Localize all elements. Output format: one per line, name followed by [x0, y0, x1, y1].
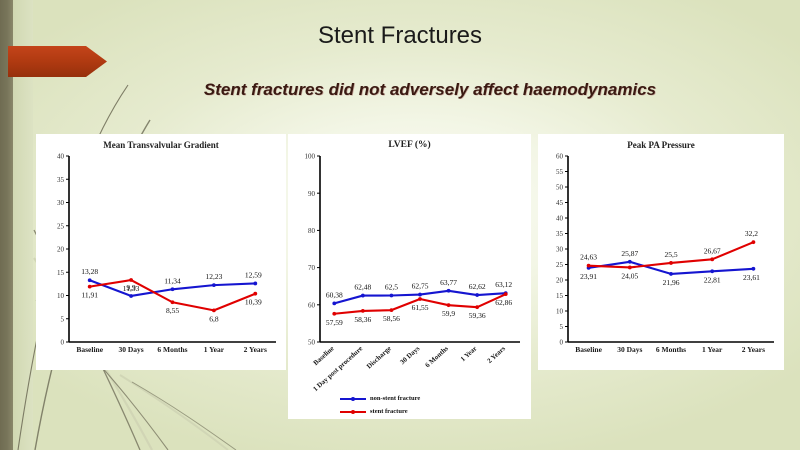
y-tick-label: 60	[308, 301, 316, 309]
y-tick-label: 25	[57, 222, 65, 230]
y-tick-label: 15	[57, 269, 65, 277]
y-tick-label: 35	[556, 230, 564, 238]
x-axis-label: Baseline	[312, 345, 336, 368]
y-tick-label: 25	[556, 261, 564, 269]
data-point-label: 24,63	[580, 253, 597, 262]
data-point-label: 25,5	[664, 250, 677, 259]
y-tick-label: 55	[556, 168, 564, 176]
x-axis-label: 6 Months	[656, 345, 686, 354]
x-axis-label: 1 Year	[459, 345, 478, 364]
y-tick-label: 5	[560, 323, 564, 331]
data-point-label: 21,96	[663, 278, 680, 287]
page-subtitle: Stent fractures did not adversely affect…	[120, 80, 740, 100]
chart-legend: non-stent fracture stent fracture	[288, 392, 531, 419]
y-tick-label: 10	[556, 308, 564, 316]
legend-marker-non-stent-fracture	[351, 397, 355, 401]
y-tick-label: 40	[556, 215, 564, 223]
data-point-label: 60,38	[326, 290, 343, 299]
data-point-label: 24,05	[621, 271, 638, 280]
legend-marker-stent-fracture	[351, 410, 355, 414]
x-axis-label: 6 Months	[157, 345, 187, 354]
y-tick-label: 90	[308, 190, 316, 198]
chart-panel-peak-pa-pressure: Peak PA Pressure 05101520253035404550556…	[538, 134, 784, 370]
data-point-label: 58,56	[383, 314, 400, 323]
chart-canvas-3: 051015202530354045505560Baseline30 Days6…	[538, 134, 784, 370]
legend-label-stent-fracture: stent fracture	[370, 408, 408, 415]
x-axis-label: 30 Days	[617, 345, 642, 354]
data-point-label: 57,59	[326, 318, 343, 327]
x-axis-label: 2 Years	[742, 345, 765, 354]
data-point-label: 62,62	[469, 282, 486, 291]
x-axis-label: Discharge	[365, 345, 393, 371]
data-point-label: 23,91	[580, 272, 597, 281]
y-tick-label: 80	[308, 227, 316, 235]
y-tick-label: 50	[556, 184, 564, 192]
x-axis-label: 6 Months	[424, 344, 451, 369]
data-point-label: 6,8	[209, 314, 219, 323]
data-point-label: 62,86	[495, 298, 512, 307]
y-tick-label: 60	[556, 153, 564, 161]
y-tick-label: 70	[308, 264, 316, 272]
data-point-label: 61,55	[412, 303, 429, 312]
y-tick-label: 45	[556, 199, 564, 207]
data-point-label: 58,36	[354, 315, 371, 324]
x-axis-label: 1 Year	[702, 345, 723, 354]
y-tick-label: 5	[61, 315, 65, 323]
chart-canvas-1: 0510152025303540Baseline30 Days6 Months1…	[36, 134, 286, 370]
y-tick-label: 20	[57, 246, 65, 254]
data-point-label: 26,67	[704, 246, 721, 255]
chart-canvas-2: 5060708090100Baseline1 Day post procedur…	[288, 134, 531, 419]
y-tick-label: 0	[61, 339, 65, 347]
y-tick-label: 10	[57, 292, 65, 300]
data-point-label: 62,48	[354, 283, 371, 292]
x-axis-label: 1 Day post procedure	[311, 345, 364, 394]
x-axis-label: 30 Days	[118, 345, 143, 354]
data-point-label: 32,2	[745, 229, 758, 238]
data-point-label: 63,77	[440, 278, 457, 287]
chart-title-1: Mean Transvalvular Gradient	[36, 140, 286, 150]
data-point-label: 23,61	[743, 273, 760, 282]
x-axis-label: Baseline	[575, 345, 602, 354]
y-tick-label: 15	[556, 292, 564, 300]
data-point-label: 11,34	[164, 276, 181, 285]
data-point-label: 8,55	[166, 306, 179, 315]
data-point-label: 13,28	[81, 267, 98, 276]
data-point-label: 62,5	[385, 283, 398, 292]
y-tick-label: 30	[57, 199, 65, 207]
y-tick-label: 30	[556, 246, 564, 254]
data-point-label: 12,59	[245, 270, 262, 279]
data-point-label: 59,9	[442, 309, 455, 318]
y-tick-label: 0	[560, 339, 564, 347]
chart-panel-lvef: LVEF (%) 5060708090100Baseline1 Day post…	[288, 134, 531, 419]
chart-title-3: Peak PA Pressure	[538, 140, 784, 150]
y-tick-label: 20	[556, 277, 564, 285]
x-axis-label: 2 Years	[486, 344, 508, 365]
y-tick-label: 50	[308, 339, 316, 347]
slide-canvas: Stent Fractures Stent fractures did not …	[0, 0, 800, 450]
y-tick-label: 35	[57, 176, 65, 184]
x-axis-label: 30 Days	[398, 344, 421, 366]
data-point-label: 10,39	[245, 298, 262, 307]
page-title: Stent Fractures	[0, 22, 800, 50]
data-point-label: 25,87	[621, 249, 638, 258]
x-axis-label: 1 Year	[204, 345, 225, 354]
legend-label-non-stent-fracture: non-stent fracture	[370, 395, 420, 402]
data-point-label: 12,23	[205, 272, 222, 281]
chart-panel-mean-transvalvular-gradient: Mean Transvalvular Gradient 051015202530…	[36, 134, 286, 370]
chart-title-2: LVEF (%)	[288, 140, 531, 150]
data-point-label: 59,36	[469, 311, 486, 320]
data-point-label: 63,12	[495, 280, 512, 289]
data-point-label: 62,75	[412, 282, 429, 291]
data-point-label: 11,91	[81, 291, 98, 300]
data-point-label: 11,33	[123, 284, 140, 293]
data-point-label: 22,81	[704, 275, 721, 284]
y-tick-label: 40	[57, 153, 65, 161]
y-tick-label: 100	[305, 153, 316, 161]
x-axis-label: Baseline	[76, 345, 103, 354]
x-axis-label: 2 Years	[244, 345, 267, 354]
